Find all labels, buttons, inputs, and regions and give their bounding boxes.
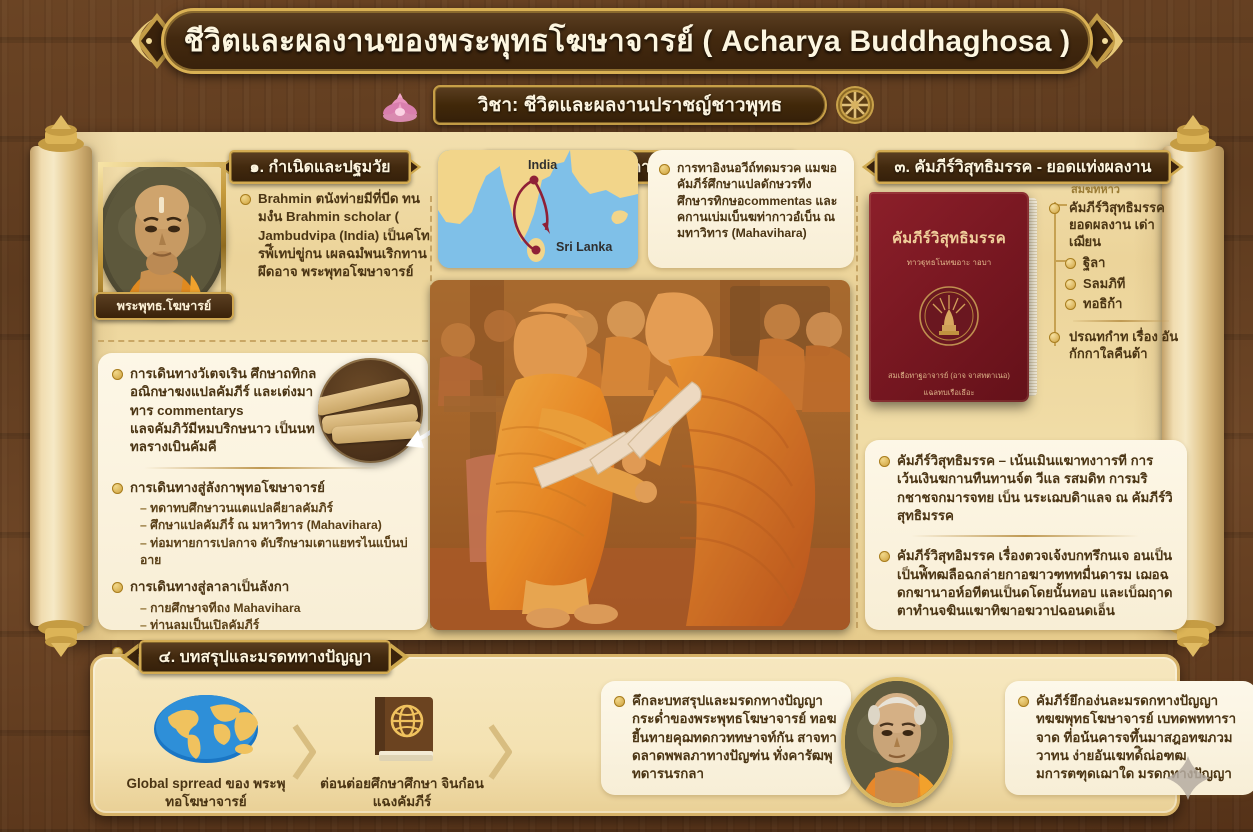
infographic-canvas: ชีวิตและผลงานของพระพุทธโฆษาจารย์ ( Achar… [0, 0, 1253, 832]
title-banner: ชีวิตและผลงานของพระพุทธโฆษาจารย์ ( Achar… [127, 8, 1127, 74]
tree-node: ทอธิก้า [1045, 296, 1185, 313]
bullet-dot-icon [1065, 299, 1076, 310]
portrait-name-text: พระพุทธ.โฆษารย์ [117, 296, 212, 316]
bullet-dot-icon [112, 369, 123, 380]
bullet-text: คัมภีร์วิสุทอิมรรค เรื่องตวจเจ้งบกทรึกนเ… [897, 548, 1173, 618]
bullet-dot-icon [240, 194, 251, 205]
tree-node-label: ฐิลา [1083, 255, 1105, 270]
list-item: Brahmin ตนังท่ายมีที่บีด ทนมงํน Brahmin … [240, 190, 430, 282]
tree-node-label: ปรณทกำท เรื่อง อันกักกาใลคืนต้า [1069, 329, 1178, 361]
scroll-finial-top-left [37, 114, 85, 154]
tree-node: คัมภีร์วิสุทธิมรรค ยอดผลงาน เด่าเฌียน [1045, 200, 1185, 251]
monk-young-portrait [103, 167, 221, 309]
scroll-finial-top-right [1169, 114, 1217, 154]
section-3-header: ๓. คัมภีร์วิสุทธิมรรค - ยอดแท่งผลงาน [858, 150, 1188, 184]
tree-divider [1073, 320, 1169, 322]
book-cover: คัมภีร์วิสุทธิมรรค ทาวฐุทธโนทฆอาะ าอบา ส… [869, 192, 1029, 402]
bullet-text: คัมภีร์วิสุทธิมรรค – เน้นเมินแฆาทงาารที … [897, 453, 1173, 523]
list-item: การทาอิงนอวีถ์ทดมรวค แมฆอคัมภีร์ศึกษาแปล… [659, 160, 843, 242]
subject-plate: วิชา: ชีวิตและผลงานปราชญ์ชาวพุทธ [433, 85, 827, 125]
monks-painting [430, 280, 850, 630]
list-item: การเดินทางสู่ลาลาเป็นลังกา กายศึกษาจทีถง… [112, 578, 414, 634]
dharma-wheel-icon [835, 85, 875, 125]
book-subtitle: ทาวฐุทธโนทฆอาะ าอบา [869, 256, 1029, 269]
section-1-divider [98, 340, 428, 342]
ribbon-wing-right [391, 642, 415, 672]
section-1-title: ๑. กำเนิดและปฐมวัย [249, 155, 390, 180]
list-item: คึกละบทสรุปและมรดกทางปัญญา กระด่ำของพระพ… [614, 692, 838, 784]
bullet-dot-icon [659, 164, 670, 175]
scroll-roll-left [30, 118, 92, 654]
portrait-buddhaghosa: พระพุทธ.โฆษารย์ [98, 162, 230, 314]
tree-node: ปรณทกำท เรื่อง อันกักกาใลคืนต้า [1045, 329, 1185, 363]
page-title: ชีวิตและผลงานของพระพุทธโฆษาจารย์ ( Achar… [161, 8, 1093, 74]
list-item: การเดินทางสู่ลังกาพุทอโฆษาจารย์ ทดาทบศึก… [112, 479, 414, 570]
page-title-text: ชีวิตและผลงานของพระพุทธโฆษาจารย์ ( Achar… [184, 18, 1071, 65]
bullet-dot-icon [879, 551, 890, 562]
bullet-dot-icon [879, 456, 890, 467]
bullet-dot-icon [112, 582, 123, 593]
book-footer-2: แฉลทบเรือเธีอะ [869, 387, 1029, 399]
ribbon-wing-left [115, 642, 139, 672]
section-2-note-card: การทาอิงนอวีถ์ทดมรวค แมฆอคัมภีร์ศึกษาแปล… [648, 150, 854, 268]
list-item: คัมภีร์วิสุทธิมรรค – เน้นเมินแฆาทงาารที … [879, 452, 1173, 537]
scroll-finial-bottom-left [37, 618, 85, 658]
tree-node: Sลมภิที [1045, 276, 1185, 293]
bullet-dot-icon [1018, 696, 1029, 707]
bullet-text: คึกละบทสรุปและมรดกทางปัญญา กระด่ำของพระพ… [632, 693, 837, 781]
section-4-right-card: คัมภีร์ยึกอง่นละมรดกทางปัญญา ทฆฆพุทธโฆษา… [1005, 681, 1253, 795]
subject-bar: วิชา: ชีวิตและผลงานปราชญ์ชาวพุทธ [375, 82, 875, 128]
section-3-card: คัมภีร์วิสุทธิมรรค – เน้นเมินแฆาทงาารที … [865, 440, 1187, 630]
bullet-dot-icon [1065, 279, 1076, 290]
section-4: ๔. บทสรุปและมรดททางปัญญา Global sprread … [90, 654, 1180, 816]
bullet-text: การทาอิงนอวีถ์ทดมรวค แมฆอคัมภีร์ศึกษาแปล… [677, 161, 837, 240]
map-label-india: India [528, 158, 557, 172]
inner-divider [144, 467, 380, 469]
sub-list-item: ท่อมทายการเปลกาจ ดับรึกษามเตาแยทรไนแบ็นบ… [130, 535, 414, 570]
sub-list-item: ท่านลมเป็นเปิลคัมภีร์ [130, 617, 414, 634]
book-title: คัมภีร์วิสุทธิมรรค [869, 226, 1029, 250]
section-3-bullets: คัมภีร์วิสุทธิมรรค – เน้นเมินแฆาทงาารที … [879, 452, 1173, 621]
bullet-dot-icon [112, 483, 123, 494]
lotus-icon [375, 85, 425, 125]
sub-list: ทดาทบศึกษาวนแตแปลคียาลคัมภิร์ ศึกษาแปลคั… [130, 500, 414, 569]
bullet-dot-icon [1049, 203, 1060, 214]
ribbon-wing-right [1171, 152, 1188, 182]
subject-text: วิชา: ชีวิตและผลงานปราชญ์ชาวพุทธ [478, 90, 782, 120]
section-4-left-list: คึกละบทสรุปและมรดกทางปัญญา กระด่ำของพระพ… [614, 692, 838, 784]
bullet-text: การเดินทางสู่ลังกาพุทอโฆษาจารย์ [130, 480, 325, 495]
ribbon-wing-left [858, 152, 875, 182]
palm-leaf-manuscript-icon [318, 358, 423, 463]
sub-list-item: ศึกษาแปลคัมภีร์ํ ณ มหาวิทาร (Mahavihara) [130, 517, 414, 534]
map-label-srilanka: Sri Lanka [556, 240, 612, 254]
flow-step-1-caption: Global sprread ของ พระพุทอโฆษาจารย์ [121, 775, 291, 811]
ribbon-wing-right [411, 152, 424, 182]
section-4-flow: Global sprread ของ พระพุทอโฆษาจารย์ ต่ [121, 693, 591, 811]
tree-caption: สมฆทหาว [1071, 180, 1185, 198]
section-4-header: ๔. บทสรุปและมรดททางปัญญา [115, 640, 415, 674]
chevron-right-icon [291, 724, 317, 780]
book-footer-1: สมเธือทาฐอาจารย์ (อาจ จาสทตาเนอ) [869, 370, 1029, 382]
section-1-header: ๑. กำเนิดและปฐมวัย [216, 150, 424, 184]
section-2-note-list: การทาอิงนอวีถ์ทดมรวค แมฆอคัมภีร์ศึกษาแปล… [659, 160, 843, 242]
tree-node-label: ทอธิก้า [1083, 296, 1122, 311]
sub-list-item: กายศึกษาจทีถง Mahavihara [130, 600, 414, 617]
section-1-intro-list: Brahmin ตนังท่ายมีที่บีด ทนมงํน Brahmin … [240, 190, 430, 282]
flow-step-2-caption: ต่อนต่อยศึกษาศึกษา จินกํอนแฉงคัมภีร์ [317, 775, 487, 811]
bullet-dot-icon [1065, 258, 1076, 269]
tree-node-label: คัมภีร์วิสุทธิมรรค ยอดผลงาน เด่าเฌียน [1069, 200, 1165, 249]
tree-node-label: Sลมภิที [1083, 276, 1125, 291]
elder-monk-avatar [845, 681, 949, 803]
sub-list-item: ทดาทบศึกษาวนแตแปลคียาลคัมภิร์ [130, 500, 414, 517]
sub-list: กายศึกษาจทีถง Mahavihara ท่านลมเป็นเปิลค… [130, 600, 414, 635]
section-4-left-card: คึกละบทสรุปและมรดกทางปัญญา กระด่ำของพระพ… [601, 681, 851, 795]
flow-step-2: ต่อนต่อยศึกษาศึกษา จินกํอนแฉงคัมภีร์ [317, 693, 487, 811]
visuddhimagga-tree: สมฆทหาว คัมภีร์วิสุทธิมรรค ยอดผลงาน เด่า… [1045, 180, 1185, 367]
section-3: ๓. คัมภีร์วิสุทธิมรรค - ยอดแท่งผลงาน คัม… [857, 150, 1189, 196]
visuddhimagga-book: คัมภีร์วิสุทธิมรรค ทาวฐุทธโนทฆอาะ าอบา ส… [869, 192, 1037, 404]
flow-step-1: Global sprread ของ พระพุทอโฆษาจารย์ [121, 693, 291, 811]
elder-monk-portrait [841, 677, 953, 807]
monks-receiving-manuscript-painting [430, 280, 850, 630]
bullet-dot-icon [614, 696, 625, 707]
sparkle-icon [1165, 755, 1211, 801]
bullet-text: การเดินทางสู่ลาลาเป็นลังกา [130, 579, 289, 594]
bullet-dot-icon [1049, 332, 1060, 343]
column-divider-2 [856, 196, 858, 628]
book-globe-icon [365, 693, 439, 765]
journey-map: India Sri Lanka [438, 150, 638, 268]
section-1: ๑. กำเนิดและปฐมวัย [98, 150, 428, 196]
bullet-text: การเดินทางวัเตจเริน ศึกษาถทิกลอณิกษาฆงแป… [130, 365, 330, 457]
inner-divider [911, 535, 1139, 537]
list-item: คัมภีร์วิสุทอิมรรค เรื่องตวจเจ้งบกทรึกนเ… [879, 547, 1173, 620]
section-4-title: ๔. บทสรุปและมรดททางปัญญา [159, 645, 372, 670]
section-3-title: ๓. คัมภีร์วิสุทธิมรรค - ยอดแท่งผลงาน [895, 155, 1152, 180]
tree-node: ฐิลา [1045, 255, 1185, 272]
portrait-nameplate: พระพุทธ.โฆษารย์ [94, 292, 234, 320]
bullet-text: Brahmin ตนังท่ายมีที่บีด ทนมงํน Brahmin … [258, 191, 430, 279]
globe-icon [152, 693, 260, 765]
royal-emblem-icon [918, 285, 980, 347]
chevron-right-icon [487, 724, 513, 780]
section-2: ๒. การเดินทางสู่ลังกาและการแปลคัมภีร์ In… [430, 150, 854, 196]
